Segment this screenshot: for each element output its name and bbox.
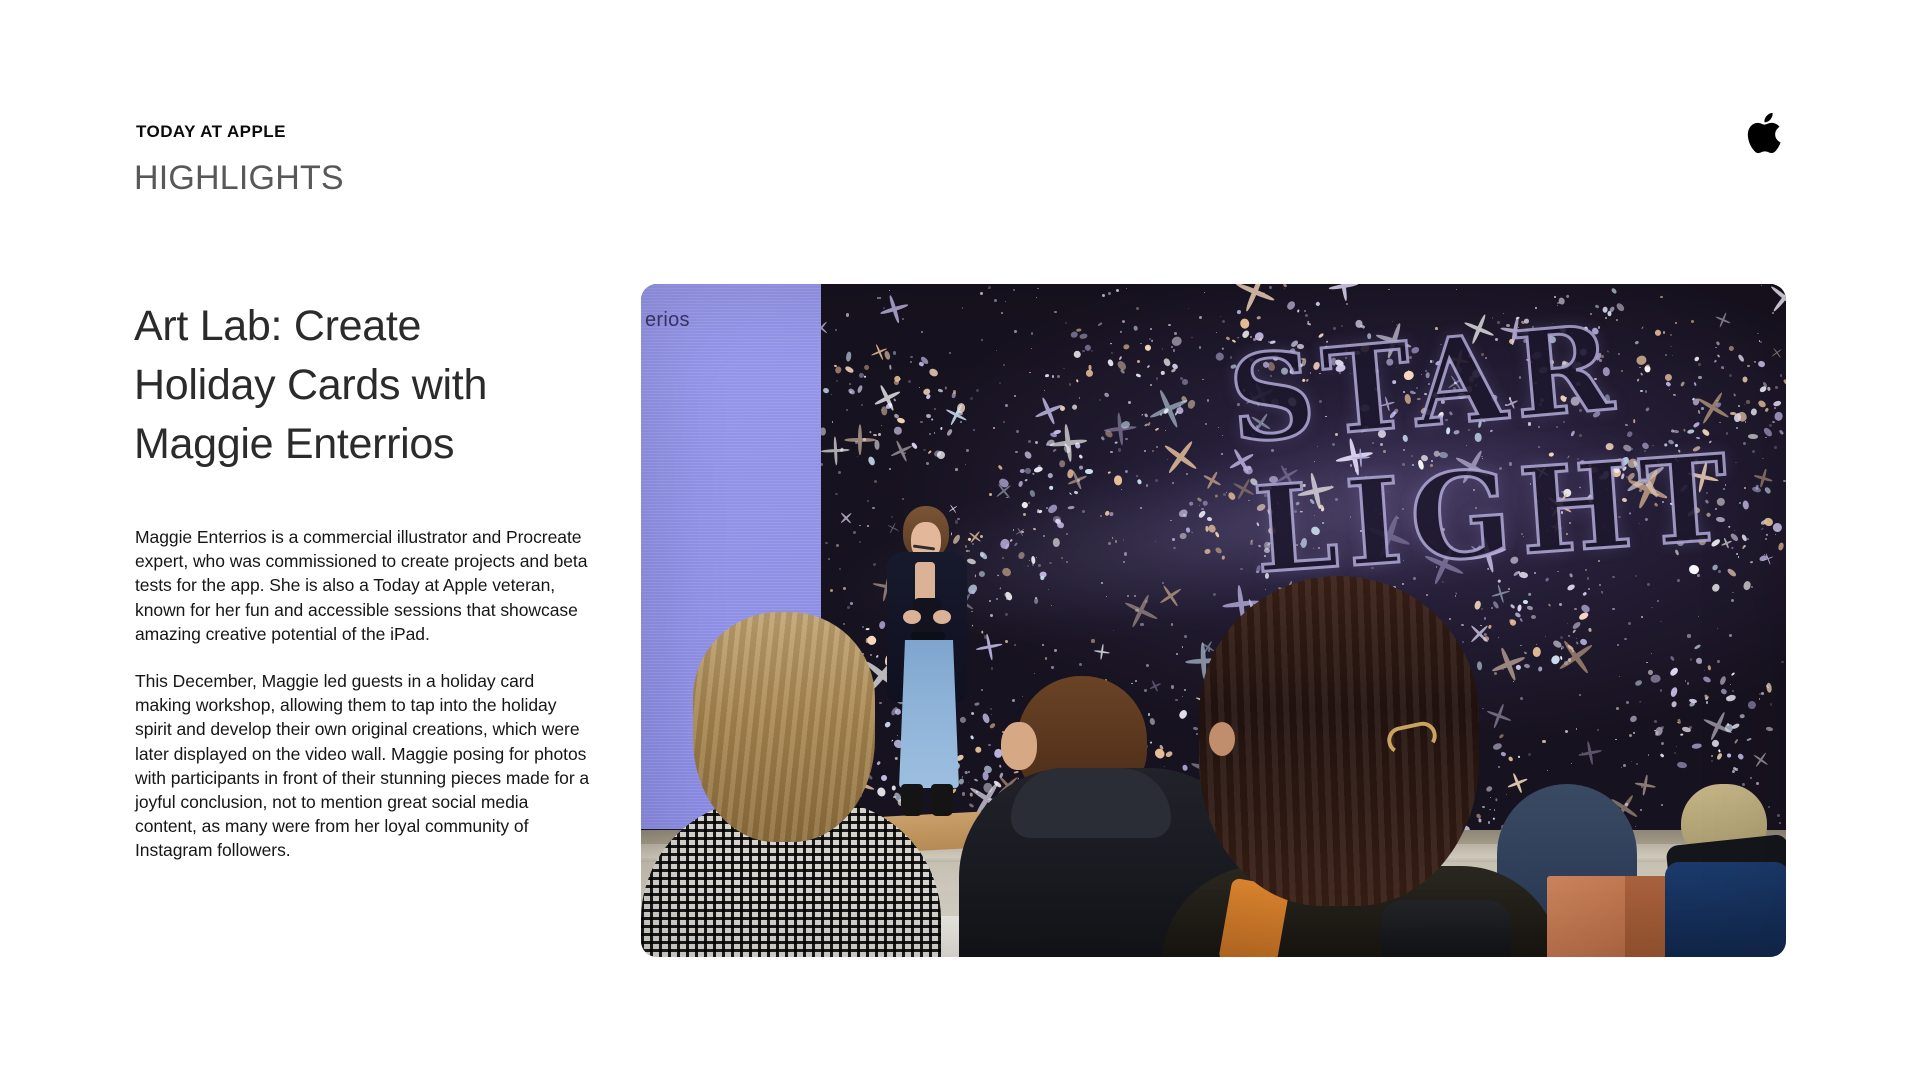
starlight-lettering: STAR LIGHT <box>1119 294 1719 624</box>
audience-ear <box>1209 722 1235 756</box>
article-photo: STAR LIGHT erios <box>641 284 1786 957</box>
eyebrow-label: TODAY AT APPLE <box>136 122 286 142</box>
page-title: HIGHLIGHTS <box>134 159 344 198</box>
audience-backpack <box>1381 900 1511 957</box>
wooden-stool <box>1547 876 1677 957</box>
audience-dark-hair <box>1199 576 1479 906</box>
apple-logo-icon <box>1745 108 1791 158</box>
article-headline: Art Lab: Create Holiday Cards with Maggi… <box>134 297 564 474</box>
audience-face <box>1001 722 1037 770</box>
page-root: TODAY AT APPLE HIGHLIGHTS Art Lab: Creat… <box>0 0 1920 1080</box>
article-paragraph-1: Maggie Enterrios is a commercial illustr… <box>135 525 590 646</box>
audience-hood <box>1011 768 1171 838</box>
video-wall-left-text: erios <box>645 309 690 332</box>
audience-member-blonde <box>641 612 941 957</box>
article-paragraph-2: This December, Maggie led guests in a ho… <box>135 669 590 863</box>
audience-member-foreground <box>1151 576 1571 957</box>
audience-blue-garment <box>1665 862 1786 957</box>
article-body: Maggie Enterrios is a commercial illustr… <box>135 525 590 863</box>
audience-blonde-hair <box>693 612 875 842</box>
audience-member-right-edge <box>1659 784 1786 957</box>
